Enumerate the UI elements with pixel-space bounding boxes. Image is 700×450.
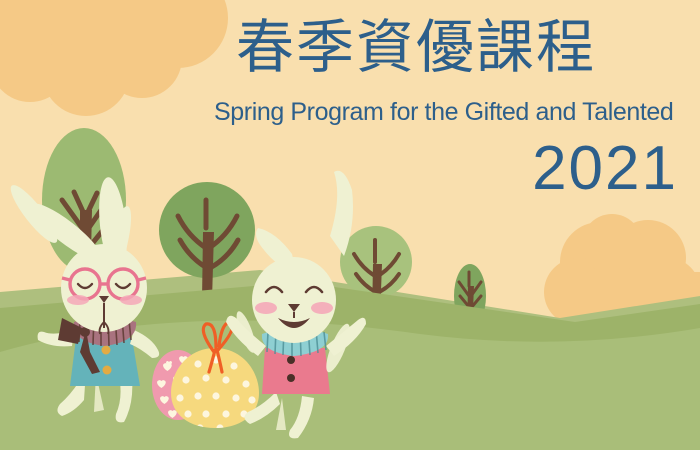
- gold-button: [103, 366, 112, 375]
- illustration-scene: [0, 0, 700, 450]
- bunny-head: [252, 257, 336, 343]
- dark-button: [287, 356, 295, 364]
- blush: [67, 295, 89, 305]
- blush: [255, 302, 277, 314]
- spring-program-banner: 春季資優課程 Spring Program for the Gifted and…: [0, 0, 700, 450]
- blush: [311, 302, 333, 314]
- dark-button: [287, 374, 295, 382]
- gold-button: [102, 346, 111, 355]
- blush: [120, 295, 142, 305]
